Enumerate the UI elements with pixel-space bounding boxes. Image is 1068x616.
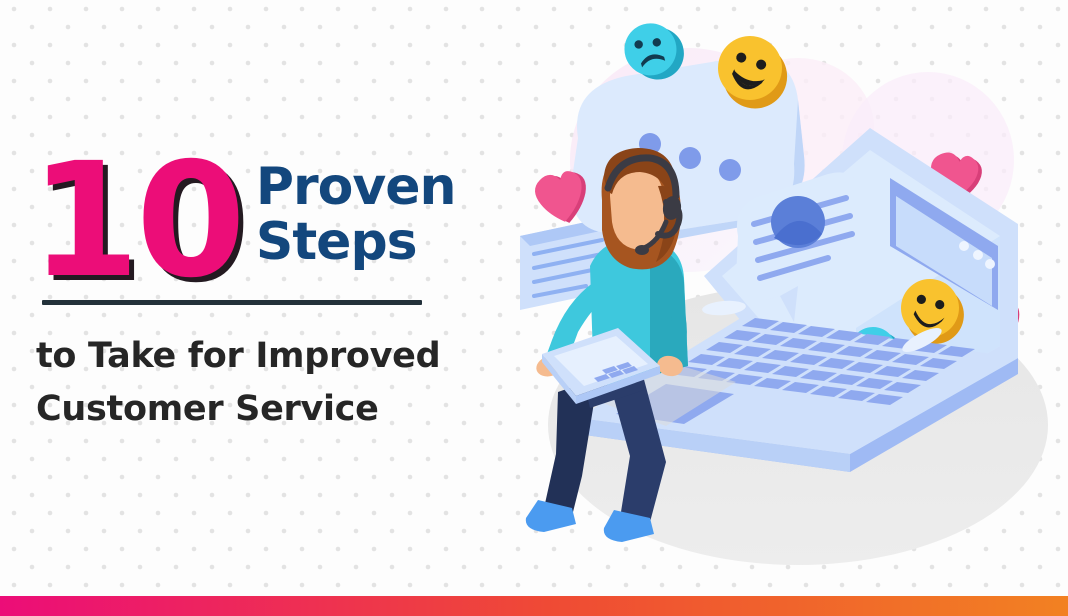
subtitle-line-2: Customer Service: [36, 383, 506, 436]
headline-line-2: Steps: [256, 215, 456, 270]
bottom-gradient-bar: [0, 596, 1068, 616]
headline-row: 10 Proven Steps: [24, 146, 494, 296]
customer-service-illustration: [498, 10, 1068, 585]
poster-canvas: 10 Proven Steps to Take for Improved Cus…: [0, 0, 1068, 616]
subtitle-block: to Take for Improved Customer Service: [36, 330, 506, 436]
title-divider-rule: [42, 300, 422, 305]
headline-line-1: Proven: [256, 160, 456, 215]
screen-avatar-blob: [771, 196, 825, 248]
headline-block: 10 Proven Steps: [24, 146, 494, 296]
headline-number: 10: [24, 146, 242, 296]
subtitle-line-1: to Take for Improved: [36, 330, 506, 383]
headline-words: Proven Steps: [256, 146, 456, 270]
